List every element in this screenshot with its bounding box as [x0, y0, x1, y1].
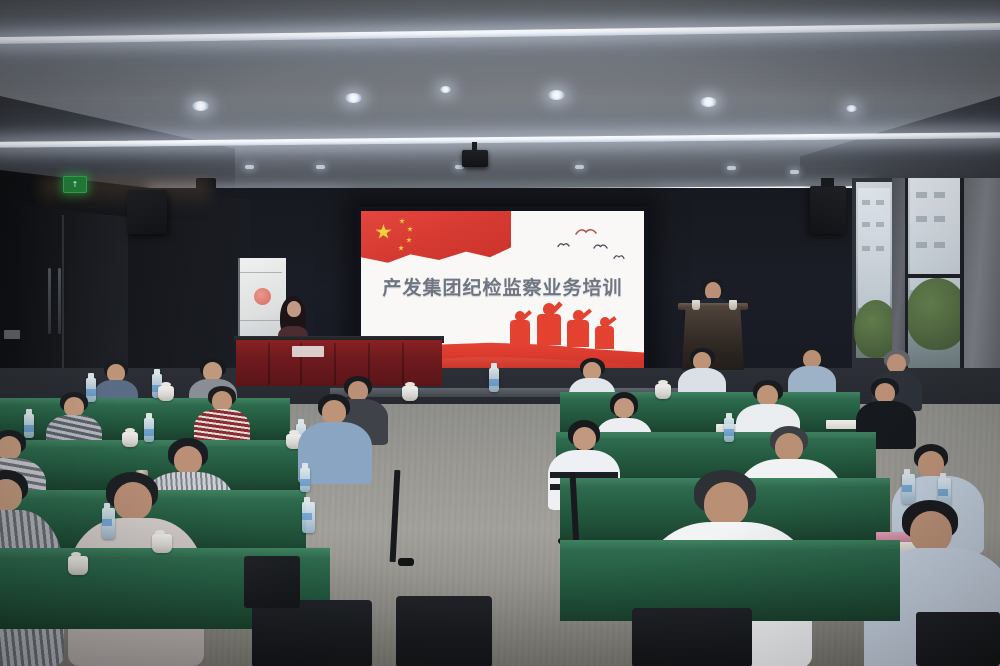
downlight-icon: [727, 166, 736, 170]
downlight-icon: [192, 101, 209, 111]
podium-cup: [692, 300, 700, 310]
door-handle[interactable]: [48, 268, 51, 334]
window-pane-left: [856, 182, 892, 358]
downlight-icon: [700, 97, 717, 107]
exit-sign: ↑: [63, 176, 87, 193]
downlight-icon: [345, 93, 362, 103]
teacup: [655, 384, 671, 399]
photo-scene: ↑: [0, 0, 1000, 666]
exit-sign-glyph: ↑: [72, 181, 79, 189]
teacup: [158, 386, 174, 401]
chair[interactable]: [396, 596, 492, 666]
bird-icon: [557, 242, 570, 248]
chair[interactable]: [252, 600, 372, 666]
chair[interactable]: [632, 608, 752, 666]
downlight-icon: [575, 165, 584, 169]
teacup: [152, 534, 172, 553]
chinese-flag-graphic: [361, 211, 511, 281]
water-bottle: [144, 418, 154, 442]
ceiling-projector-icon: [462, 150, 488, 167]
slide-title: 产发集团纪检监察业务培训: [361, 273, 644, 300]
water-bottle: [102, 508, 115, 539]
downlight-icon: [440, 86, 451, 93]
exterior-building: [858, 188, 890, 308]
water-bottle: [302, 502, 315, 533]
water-bottle: [724, 418, 734, 442]
downlight-icon: [245, 165, 254, 169]
head-table: [236, 340, 442, 386]
bird-icon: [613, 254, 625, 260]
downlight-icon: [790, 170, 799, 174]
downlight-icon: [846, 105, 857, 112]
water-bottle: [300, 468, 310, 492]
head-table-document: [292, 346, 324, 357]
teacup: [122, 432, 138, 447]
window-mullion: [904, 274, 964, 278]
water-bottle: [24, 414, 34, 438]
water-bottle: [489, 368, 499, 392]
bird-icon: [593, 243, 608, 250]
handbag: [916, 612, 1000, 666]
teacup: [68, 556, 88, 575]
window-pane-right: [904, 178, 964, 374]
wall-switch-plate[interactable]: [4, 330, 20, 339]
table-foot: [398, 558, 414, 566]
hanging-speaker-icon: [810, 186, 846, 234]
podium-cup: [729, 300, 737, 310]
water-bottle: [902, 474, 915, 504]
bird-icon: [575, 227, 597, 236]
teacup: [402, 386, 418, 401]
handbag: [244, 556, 300, 608]
flipchart-logo: [254, 288, 271, 305]
exterior-tree: [906, 278, 968, 350]
downlight-icon: [548, 90, 565, 100]
wall-speaker-icon: [127, 190, 167, 234]
downlight-icon: [316, 165, 325, 169]
door-handle[interactable]: [58, 268, 61, 334]
